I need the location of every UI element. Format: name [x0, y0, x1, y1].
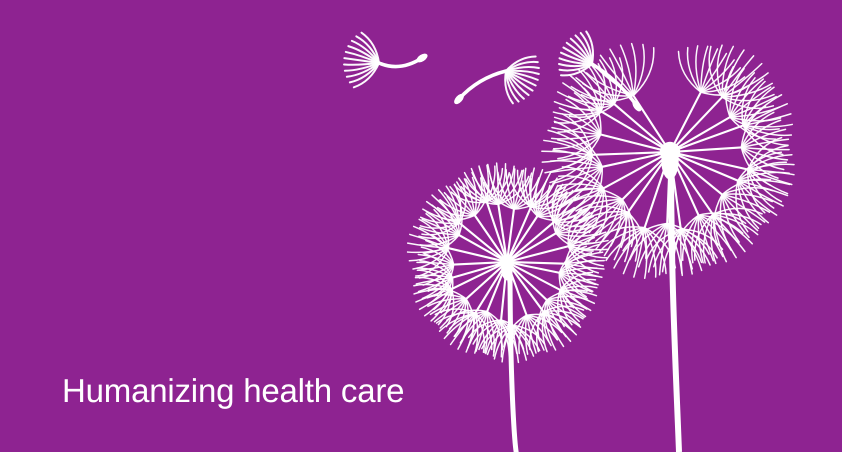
tagline-line-1: Humanizing health care [62, 371, 492, 410]
dandelion-banner: Humanizing health care one conversation … [0, 0, 842, 452]
seed-pappus [505, 57, 539, 104]
seed-pappus [344, 33, 379, 88]
seed-pappus [559, 32, 593, 76]
floating-seed-2 [452, 57, 539, 106]
floating-seed-2-stem [459, 71, 506, 99]
floating-seed-1-stem [379, 58, 422, 67]
seed-pappus [678, 46, 746, 95]
tagline: Humanizing health care one conversation … [62, 332, 492, 452]
floating-seed-1 [344, 33, 429, 88]
large-dandelion-stem [671, 152, 679, 452]
